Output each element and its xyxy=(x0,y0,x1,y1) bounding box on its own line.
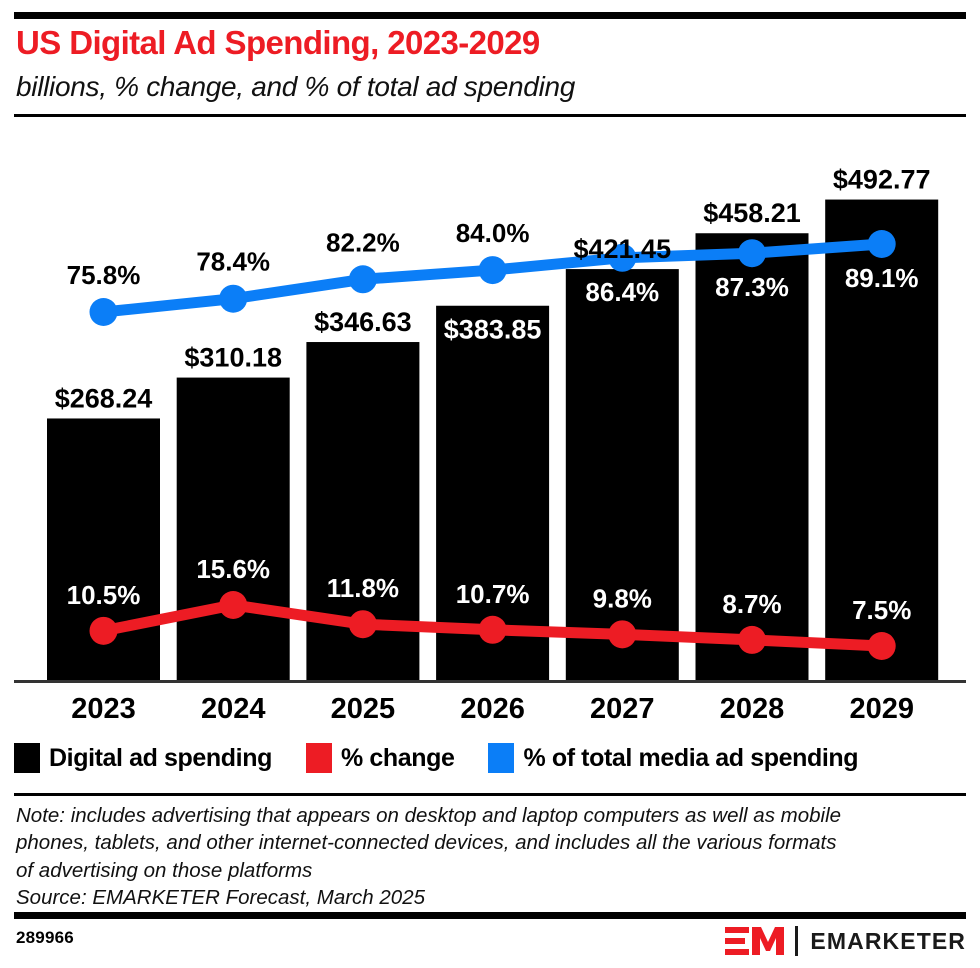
change-point-2025 xyxy=(349,610,377,638)
change-point-2026 xyxy=(479,616,507,644)
change-value-label-2028: 8.7% xyxy=(722,589,781,619)
x-axis-label-2023: 2023 xyxy=(71,693,136,722)
change-value-label-2025: 11.8% xyxy=(327,573,399,603)
share-value-label-2024: 78.4% xyxy=(196,247,270,277)
x-axis-label-2029: 2029 xyxy=(849,693,914,722)
share-value-label-2026: 84.0% xyxy=(456,218,530,248)
brand-divider xyxy=(795,926,798,956)
change-point-2027 xyxy=(608,620,636,648)
infographic-sheet: US Digital Ad Spending, 2023-2029 billio… xyxy=(0,0,980,968)
note-line-2: phones, tablets, and other internet-conn… xyxy=(16,829,956,856)
chart-legend: Digital ad spending% change% of total me… xyxy=(14,740,966,776)
note-line-1: Note: includes advertising that appears … xyxy=(16,802,956,829)
legend-swatch-change xyxy=(306,743,332,773)
bar-value-label-2023: $268.24 xyxy=(55,383,153,413)
share-point-2028 xyxy=(738,239,766,267)
change-value-label-2029: 7.5% xyxy=(852,595,911,625)
header-divider xyxy=(14,114,966,117)
change-value-label-2027: 9.8% xyxy=(593,583,652,613)
bar-value-label-2027: $421.45 xyxy=(573,234,671,264)
legend-item-spending[interactable]: Digital ad spending xyxy=(14,743,272,773)
chart-plot-area: $268.24$310.18$346.63$383.85$421.45$458.… xyxy=(0,122,980,722)
change-value-label-2026: 10.7% xyxy=(456,579,530,609)
chart-notes: Note: includes advertising that appears … xyxy=(16,802,956,911)
change-value-label-2024: 15.6% xyxy=(196,554,270,584)
x-axis-label-2024: 2024 xyxy=(201,693,266,722)
share-point-2026 xyxy=(479,256,507,284)
combo-chart: $268.24$310.18$346.63$383.85$421.45$458.… xyxy=(0,122,980,722)
legend-label-change: % change xyxy=(341,744,455,773)
page-title: US Digital Ad Spending, 2023-2029 xyxy=(16,26,956,61)
change-point-2024 xyxy=(219,591,247,619)
change-point-2029 xyxy=(868,632,896,660)
legend-item-change[interactable]: % change xyxy=(306,743,455,773)
bar-2024 xyxy=(177,378,290,680)
legend-divider xyxy=(14,793,966,796)
x-axis-line xyxy=(14,680,966,683)
page-subtitle: billions, % change, and % of total ad sp… xyxy=(16,72,956,103)
share-value-label-2028: 87.3% xyxy=(715,272,789,302)
share-value-label-2023: 75.8% xyxy=(67,260,141,290)
brand-lockup: EMARKETER xyxy=(725,924,966,958)
em-logo-icon xyxy=(725,925,785,957)
legend-item-share[interactable]: % of total media ad spending xyxy=(488,743,858,773)
x-axis-label-2027: 2027 xyxy=(590,693,655,722)
bar-value-label-2026: $383.85 xyxy=(444,315,542,345)
top-divider xyxy=(14,12,966,19)
share-point-2029 xyxy=(868,230,896,258)
bar-value-label-2028: $458.21 xyxy=(703,198,801,228)
bar-value-label-2029: $492.77 xyxy=(833,165,931,195)
share-value-label-2027: 86.4% xyxy=(585,277,659,307)
x-axis-label-2026: 2026 xyxy=(460,693,525,722)
brand-name: EMARKETER xyxy=(810,928,966,955)
share-point-2023 xyxy=(90,298,118,326)
legend-label-share: % of total media ad spending xyxy=(523,744,858,773)
legend-label-spending: Digital ad spending xyxy=(49,744,272,773)
change-point-2028 xyxy=(738,626,766,654)
share-point-2024 xyxy=(219,285,247,313)
bar-value-label-2025: $346.63 xyxy=(314,307,412,337)
note-source: Source: EMARKETER Forecast, March 2025 xyxy=(16,884,956,911)
legend-swatch-share xyxy=(488,743,514,773)
chart-id: 289966 xyxy=(16,928,74,948)
legend-swatch-spending xyxy=(14,743,40,773)
note-line-3: of advertising on those platforms xyxy=(16,857,956,884)
x-axis-label-2028: 2028 xyxy=(720,693,785,722)
bottom-divider xyxy=(14,912,966,919)
bar-2027 xyxy=(566,269,679,680)
share-value-label-2029: 89.1% xyxy=(845,263,919,293)
bar-value-label-2024: $310.18 xyxy=(184,343,282,373)
share-value-label-2025: 82.2% xyxy=(326,227,400,257)
share-point-2025 xyxy=(349,265,377,293)
change-value-label-2023: 10.5% xyxy=(67,580,141,610)
change-point-2023 xyxy=(90,617,118,645)
x-axis-label-2025: 2025 xyxy=(331,693,396,722)
